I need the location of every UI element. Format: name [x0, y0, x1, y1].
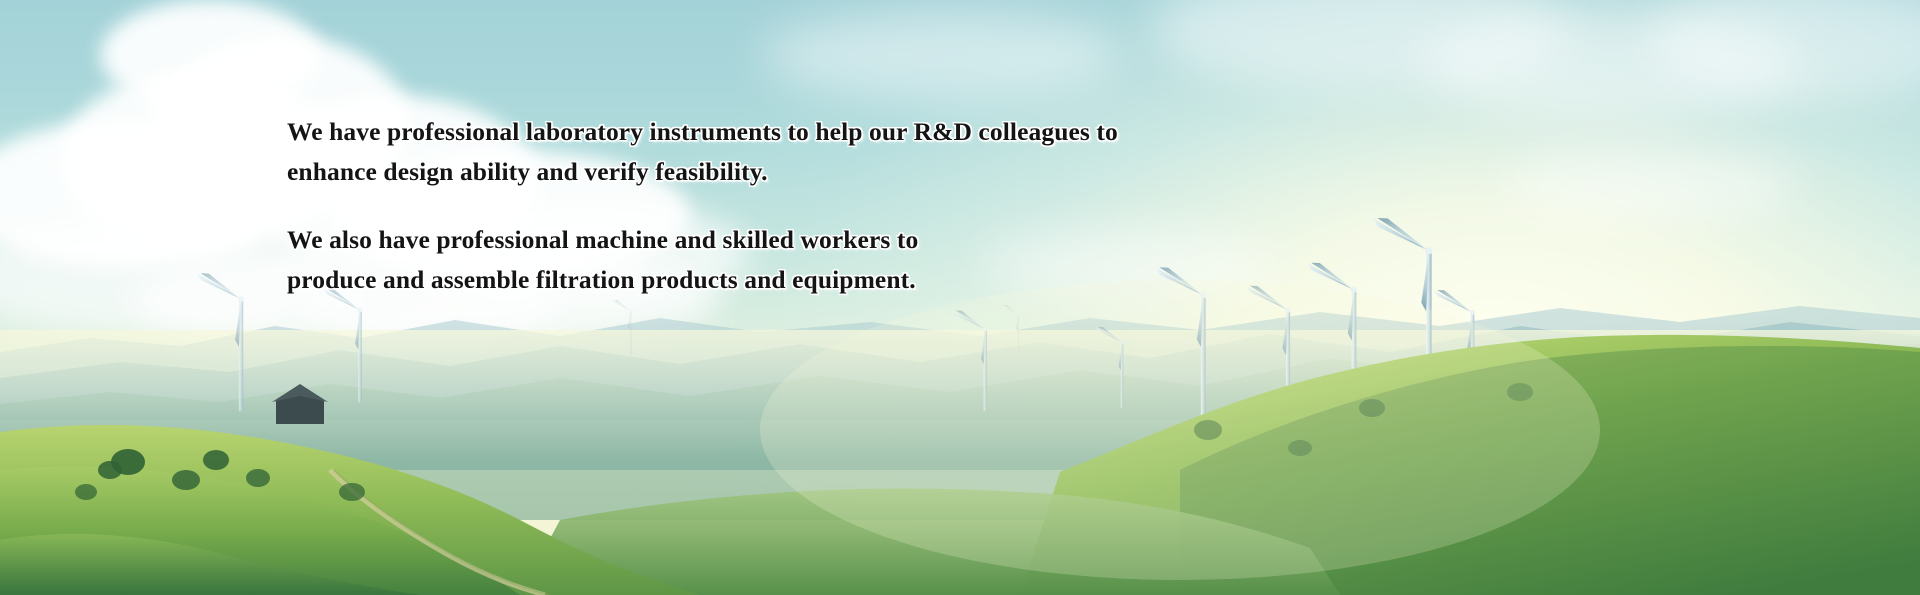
tree — [203, 450, 229, 470]
paragraph-1: We have professional laboratory instrume… — [287, 112, 1247, 192]
paragraph-1-line-2: enhance design ability and verify feasib… — [287, 152, 1247, 192]
sun-glow — [760, 280, 1600, 580]
tree — [98, 461, 122, 479]
tree — [172, 470, 200, 490]
tree — [339, 483, 365, 501]
paragraph-2-line-1: We also have professional machine and sk… — [287, 220, 1247, 260]
paragraph-2-line-2: produce and assemble filtration products… — [287, 260, 1247, 300]
banner-copy: We have professional laboratory instrume… — [287, 112, 1247, 300]
tree — [75, 484, 97, 500]
paragraph-1-line-1: We have professional laboratory instrume… — [287, 112, 1247, 152]
wind-farm-hero-banner: We have professional laboratory instrume… — [0, 0, 1920, 595]
tree — [246, 469, 270, 487]
paragraph-2: We also have professional machine and sk… — [287, 220, 1247, 300]
